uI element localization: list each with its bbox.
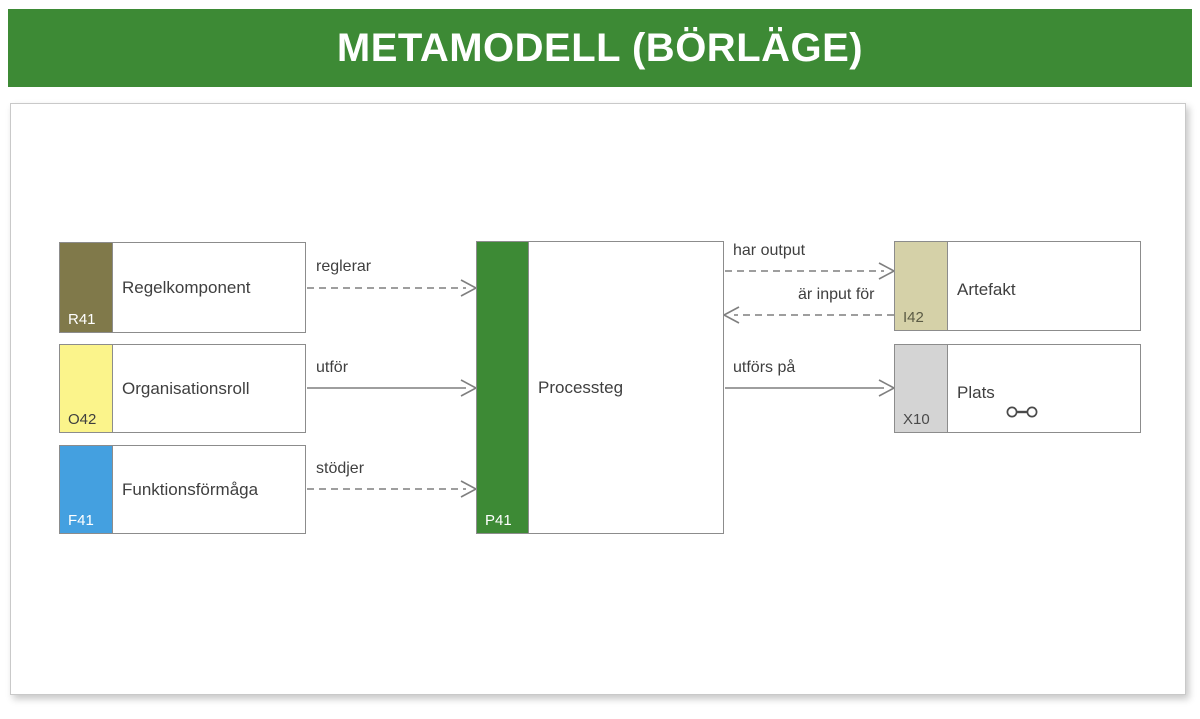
entity-box-processteg[interactable]: P41 Processteg bbox=[476, 241, 724, 534]
entity-body-funktionsformaga: Funktionsförmåga bbox=[113, 446, 305, 533]
entity-code-organisationsroll: O42 bbox=[68, 412, 96, 427]
entity-label-plats: Plats bbox=[957, 383, 995, 403]
link-icon bbox=[1005, 405, 1039, 419]
entity-tab-plats: X10 bbox=[895, 345, 948, 432]
entity-tab-artefakt: I42 bbox=[895, 242, 948, 330]
relationship-label-ar-input-for: är input för bbox=[798, 286, 874, 304]
relationship-label-stodjer: stödjer bbox=[316, 460, 364, 478]
entity-label-artefakt: Artefakt bbox=[957, 280, 1016, 300]
entity-code-regelkomponent: R41 bbox=[68, 312, 96, 327]
entity-code-funktionsformaga: F41 bbox=[68, 513, 94, 528]
entity-label-regelkomponent: Regelkomponent bbox=[122, 278, 251, 298]
entity-body-organisationsroll: Organisationsroll bbox=[113, 345, 305, 432]
entity-label-processteg: Processteg bbox=[538, 378, 623, 398]
entity-body-artefakt: Artefakt bbox=[948, 242, 1140, 330]
entity-tab-processteg: P41 bbox=[477, 242, 529, 533]
entity-body-regelkomponent: Regelkomponent bbox=[113, 243, 305, 332]
relationship-label-reglerar: reglerar bbox=[316, 258, 371, 276]
entity-box-plats[interactable]: X10 Plats bbox=[894, 344, 1141, 433]
entity-label-organisationsroll: Organisationsroll bbox=[122, 379, 250, 399]
entity-code-processteg: P41 bbox=[485, 513, 512, 528]
relationship-label-har-output: har output bbox=[733, 242, 805, 260]
entity-tab-funktionsformaga: F41 bbox=[60, 446, 113, 533]
entity-box-regelkomponent[interactable]: R41 Regelkomponent bbox=[59, 242, 306, 333]
entity-body-processteg: Processteg bbox=[529, 242, 723, 533]
entity-box-funktionsformaga[interactable]: F41 Funktionsförmåga bbox=[59, 445, 306, 534]
entity-tab-regelkomponent: R41 bbox=[60, 243, 113, 332]
entity-body-plats: Plats bbox=[948, 345, 1140, 432]
entity-tab-organisationsroll: O42 bbox=[60, 345, 113, 432]
entity-box-organisationsroll[interactable]: O42 Organisationsroll bbox=[59, 344, 306, 433]
header-banner: METAMODELL (BÖRLÄGE) bbox=[8, 9, 1192, 87]
entity-code-artefakt: I42 bbox=[903, 310, 924, 325]
entity-code-plats: X10 bbox=[903, 412, 930, 427]
entity-box-artefakt[interactable]: I42 Artefakt bbox=[894, 241, 1141, 331]
page-title: METAMODELL (BÖRLÄGE) bbox=[337, 26, 863, 71]
entity-label-funktionsformaga: Funktionsförmåga bbox=[122, 480, 258, 500]
relationship-label-utfors-pa: utförs på bbox=[733, 359, 795, 377]
relationship-label-utfor: utför bbox=[316, 359, 348, 377]
